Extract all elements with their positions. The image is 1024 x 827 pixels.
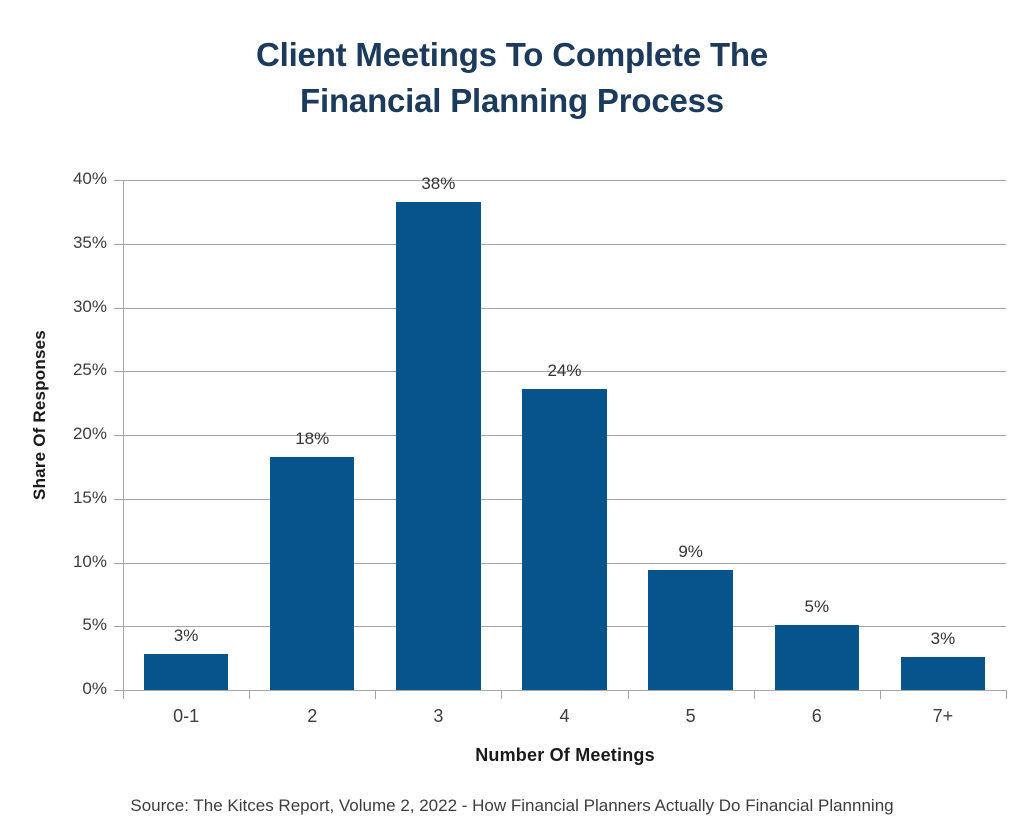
x-tick-label: 4 xyxy=(501,706,627,727)
bar-value-label: 18% xyxy=(249,429,375,449)
bar[interactable] xyxy=(901,657,986,690)
y-tick-mark xyxy=(114,308,123,309)
y-tick-mark xyxy=(114,626,123,627)
x-tick-label: 5 xyxy=(628,706,754,727)
x-tick-label: 3 xyxy=(375,706,501,727)
bar[interactable] xyxy=(396,202,481,690)
y-tick-label-text: 5% xyxy=(82,615,107,635)
bar[interactable] xyxy=(270,457,355,690)
bar-slot: 18% xyxy=(249,180,375,690)
bar-value-label: 24% xyxy=(501,361,627,381)
x-tick-label: 7+ xyxy=(880,706,1006,727)
y-tick-label-text: 35% xyxy=(73,233,107,253)
bar[interactable] xyxy=(144,654,229,690)
plot-area: 3%18%38%24%9%5%3% xyxy=(123,180,1006,690)
bar[interactable] xyxy=(775,625,860,690)
bar-slot: 24% xyxy=(501,180,627,690)
bar-slot: 5% xyxy=(754,180,880,690)
bar-chart: Share Of Responses 0%5%10%15%20%25%30%35… xyxy=(0,150,1024,775)
bar-value-label: 3% xyxy=(123,626,249,646)
bar-slot: 9% xyxy=(628,180,754,690)
y-axis-title: Share Of Responses xyxy=(30,305,50,525)
y-tick-label-text: 25% xyxy=(73,360,107,380)
x-tick-mark xyxy=(628,690,629,699)
x-tick-mark xyxy=(375,690,376,699)
bar-value-label: 5% xyxy=(754,597,880,617)
x-tick-mark xyxy=(123,690,124,699)
y-tick-mark xyxy=(114,690,123,691)
y-tick-label-text: 0% xyxy=(82,679,107,699)
bar-slot: 38% xyxy=(375,180,501,690)
y-tick-mark xyxy=(114,563,123,564)
bar[interactable] xyxy=(648,570,733,690)
source-note: Source: The Kitces Report, Volume 2, 202… xyxy=(0,796,1024,816)
bar-value-label: 9% xyxy=(628,542,754,562)
y-tick-label-text: 15% xyxy=(73,488,107,508)
x-tick-label: 2 xyxy=(249,706,375,727)
x-axis-line xyxy=(123,690,1007,691)
y-tick-label-text: 40% xyxy=(73,169,107,189)
y-tick-label-text: 10% xyxy=(73,552,107,572)
y-tick-mark xyxy=(114,371,123,372)
x-tick-mark xyxy=(1006,690,1007,699)
x-axis-title: Number Of Meetings xyxy=(123,745,1007,766)
y-tick-mark xyxy=(114,244,123,245)
bar[interactable] xyxy=(522,389,607,690)
x-tick-mark xyxy=(501,690,502,699)
x-tick-label: 6 xyxy=(754,706,880,727)
y-tick-label-text: 20% xyxy=(73,424,107,444)
y-tick-mark xyxy=(114,180,123,181)
x-tick-mark xyxy=(754,690,755,699)
chart-title-line-2: Financial Planning Process xyxy=(0,78,1024,124)
bar-value-label: 3% xyxy=(880,629,1006,649)
bar-slot: 3% xyxy=(880,180,1006,690)
x-tick-label: 0-1 xyxy=(123,706,249,727)
x-tick-mark xyxy=(249,690,250,699)
x-tick-mark xyxy=(880,690,881,699)
chart-title-line-1: Client Meetings To Complete The xyxy=(0,32,1024,78)
bar-slot: 3% xyxy=(123,180,249,690)
y-tick-mark xyxy=(114,435,123,436)
y-tick-label-text: 30% xyxy=(73,297,107,317)
chart-title: Client Meetings To Complete The Financia… xyxy=(0,32,1024,124)
bar-value-label: 38% xyxy=(375,174,501,194)
y-tick-mark xyxy=(114,499,123,500)
